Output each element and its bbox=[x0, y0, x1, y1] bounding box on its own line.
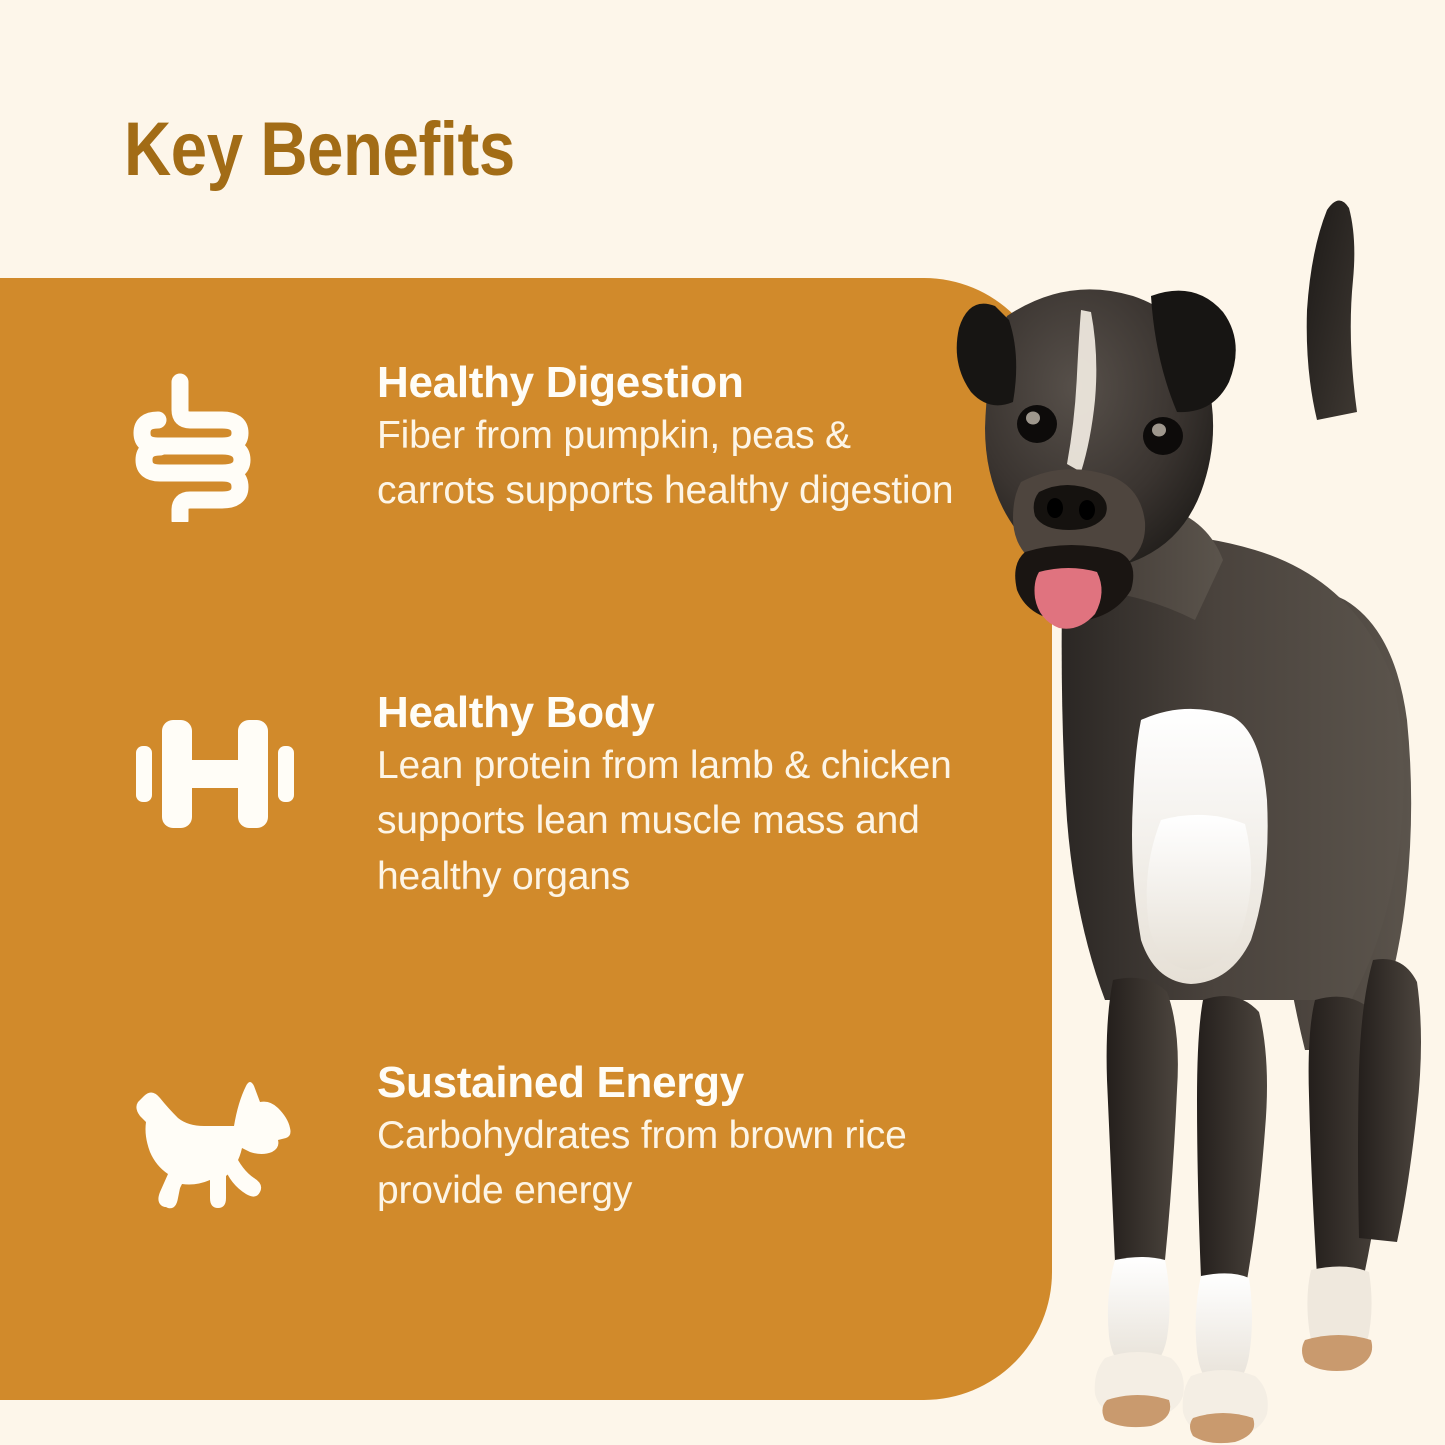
benefit-description: Carbohydrates from brown rice provide en… bbox=[377, 1108, 962, 1219]
benefit-description: Lean protein from lamb & chicken support… bbox=[377, 738, 962, 904]
dumbbell-icon bbox=[130, 710, 302, 860]
intestine-icon bbox=[130, 372, 302, 522]
running-dog-icon bbox=[130, 1074, 302, 1224]
benefit-heading: Sustained Energy bbox=[377, 1060, 977, 1106]
benefit-text-healthy-body: Healthy Body Lean protein from lamb & ch… bbox=[377, 690, 977, 904]
benefit-heading: Healthy Body bbox=[377, 690, 977, 736]
infographic-canvas: Key Benefits Healthy Digestion Fiber fro… bbox=[0, 0, 1445, 1445]
benefit-text-sustained-energy: Sustained Energy Carbohydrates from brow… bbox=[377, 1060, 977, 1219]
benefit-text-healthy-digestion: Healthy Digestion Fiber from pumpkin, pe… bbox=[377, 360, 977, 519]
benefit-description: Fiber from pumpkin, peas & carrots suppo… bbox=[377, 408, 962, 519]
benefit-heading: Healthy Digestion bbox=[377, 360, 977, 406]
page-title: Key Benefits bbox=[124, 112, 515, 188]
